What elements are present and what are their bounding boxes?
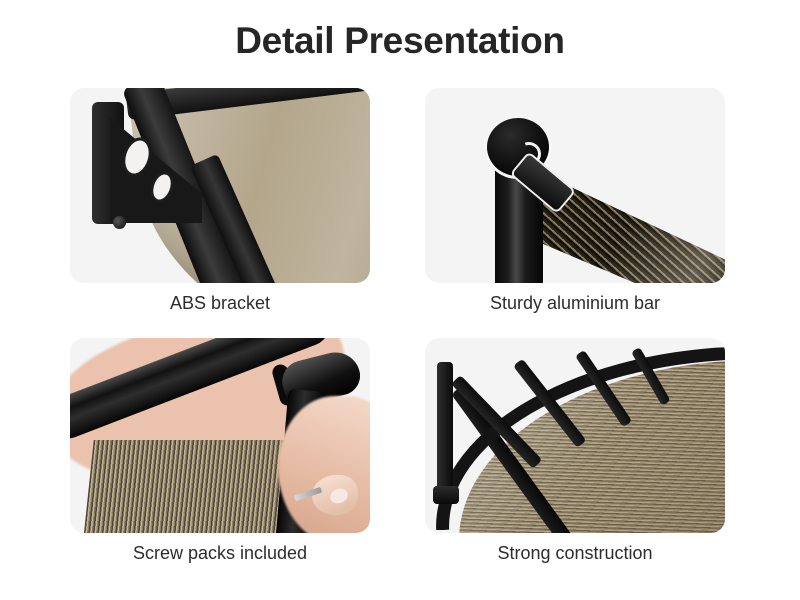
illustration-screw-packs	[70, 338, 370, 533]
illustration-abs-bracket	[70, 88, 370, 283]
panel-caption: Sturdy aluminium bar	[425, 290, 725, 316]
bracket-screw-boss	[113, 216, 126, 229]
polycarbonate-sheet	[82, 440, 304, 533]
bracket-wall-post	[437, 362, 453, 498]
illustration-strong-construction	[425, 338, 725, 533]
photo-aluminium-bar	[425, 88, 725, 283]
panel-caption: ABS bracket	[70, 290, 370, 316]
detail-panel-screw-packs: Screw packs included	[70, 338, 370, 573]
illustration-aluminium-bar	[425, 88, 725, 283]
photo-strong-construction	[425, 338, 725, 533]
panel-caption: Strong construction	[425, 540, 725, 566]
bracket-foot	[433, 486, 459, 504]
detail-panel-strong-construction: Strong construction	[425, 338, 725, 573]
detail-panel-grid: ABS bracket Sturdy aluminium bar	[70, 88, 730, 584]
detail-panel-aluminium-bar: Sturdy aluminium bar	[425, 88, 725, 323]
panel-caption: Screw packs included	[70, 540, 370, 566]
page-title: Detail Presentation	[0, 18, 800, 64]
photo-screw-packs	[70, 338, 370, 533]
photo-abs-bracket	[70, 88, 370, 283]
detail-panel-abs-bracket: ABS bracket	[70, 88, 370, 323]
